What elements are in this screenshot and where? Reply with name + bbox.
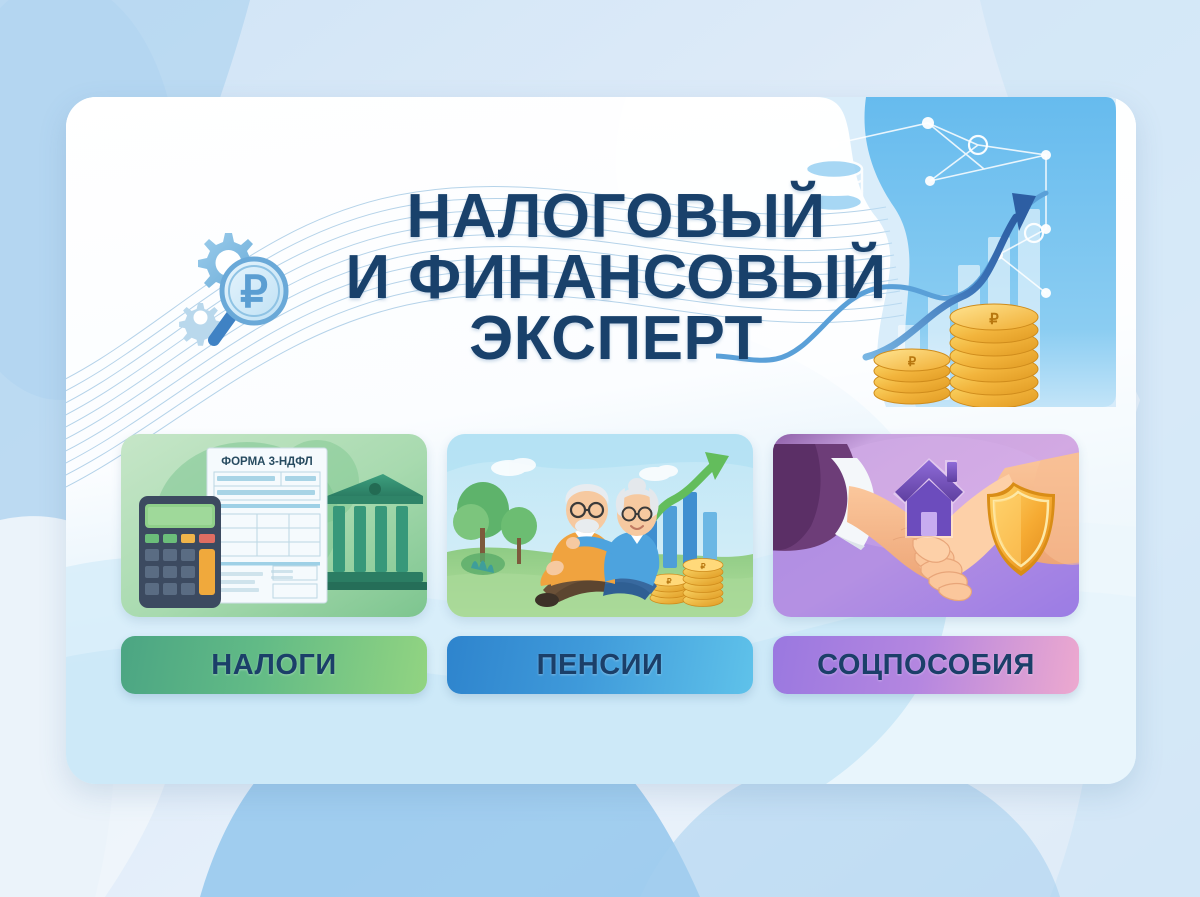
tile-illustration-benefits[interactable] [773, 434, 1079, 617]
title-line-3: ЭКСПЕРТ [316, 309, 916, 370]
gears-magnifier-ruble-icon: ₽ [170, 215, 310, 355]
category-button-pensions[interactable]: ПЕНСИИ [447, 636, 753, 694]
header: ₽ ₽ [66, 97, 1136, 417]
category-button-label: ПЕНСИИ [537, 649, 664, 682]
svg-text:₽: ₽ [666, 577, 671, 586]
category-benefits: СОЦПОСОБИЯ [773, 434, 1079, 694]
tax-form-title: ФОРМА 3-НДФЛ [221, 456, 312, 468]
svg-text:₽: ₽ [989, 311, 999, 328]
page-title: НАЛОГОВЫЙ И ФИНАНСОВЫЙ ЭКСПЕРТ [316, 187, 916, 369]
tile-illustration-pensions[interactable]: ₽ ₽ [447, 434, 753, 617]
category-button-label: СОЦПОСОБИЯ [817, 649, 1035, 682]
svg-text:₽: ₽ [700, 562, 705, 571]
category-button-taxes[interactable]: НАЛОГИ [121, 636, 427, 694]
title-line-2: И ФИНАНСОВЫЙ [316, 248, 916, 309]
main-poster-card: ₽ ₽ [66, 97, 1136, 784]
category-tiles: ФОРМА 3-НДФЛ [121, 434, 1081, 694]
svg-text:₽: ₽ [240, 268, 268, 317]
category-pensions: ₽ ₽ [447, 434, 753, 694]
category-button-label: НАЛОГИ [211, 649, 336, 682]
category-button-benefits[interactable]: СОЦПОСОБИЯ [773, 636, 1079, 694]
tile-illustration-taxes[interactable]: ФОРМА 3-НДФЛ [121, 434, 427, 617]
title-line-1: НАЛОГОВЫЙ [316, 187, 916, 248]
category-taxes: ФОРМА 3-НДФЛ [121, 434, 427, 694]
